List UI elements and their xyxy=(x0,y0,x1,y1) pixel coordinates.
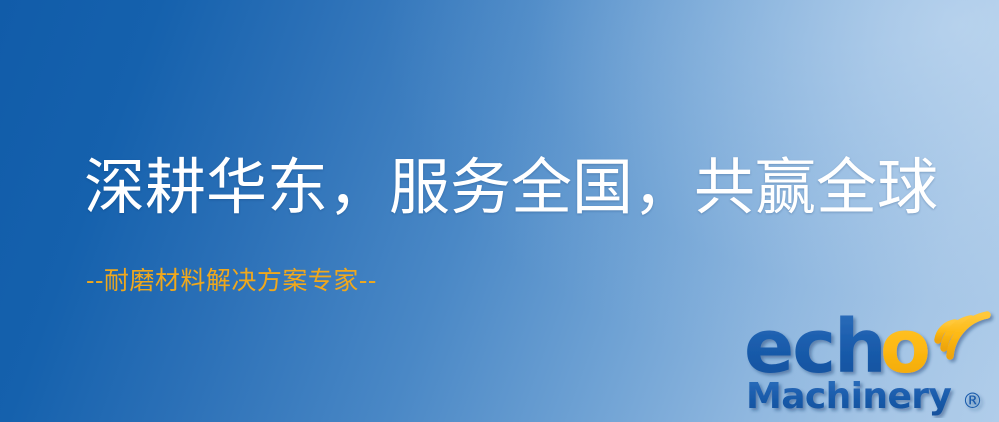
logo-wordmark-machinery: Machinery ® xyxy=(746,376,983,417)
banner-subtitle: --耐磨材料解决方案专家-- xyxy=(86,265,377,297)
svg-text:®: ® xyxy=(962,389,983,413)
svg-text:Machinery: Machinery xyxy=(746,376,951,417)
signal-arcs-icon xyxy=(938,315,987,356)
banner-headline: 深耕华东，服务全国，共赢全球 xyxy=(84,152,938,224)
echo-machinery-logo[interactable]: ech o Machinery ® xyxy=(744,296,996,418)
hero-banner: 深耕华东，服务全国，共赢全球 --耐磨材料解决方案专家-- xyxy=(0,0,999,422)
